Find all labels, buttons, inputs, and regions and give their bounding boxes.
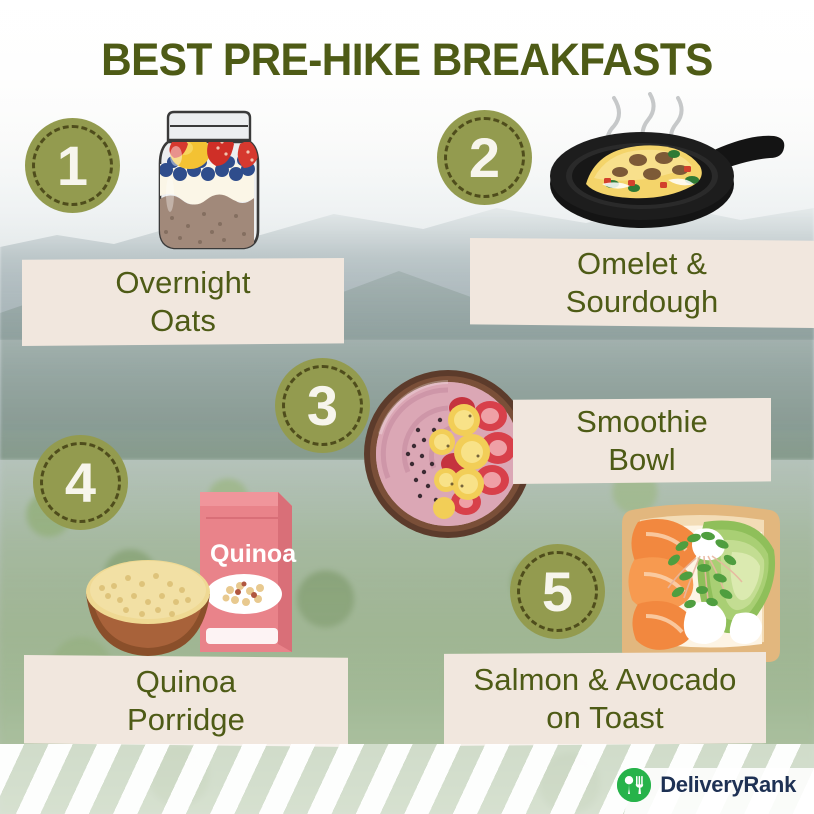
card-line-2: Sourdough bbox=[566, 283, 719, 321]
infographic-poster: BEST PRE-HIKE BREAKFASTS 1 bbox=[0, 0, 814, 814]
card-line-2: Oats bbox=[115, 302, 250, 340]
quinoa-porridge-illustration: Quinoa bbox=[78, 478, 318, 668]
card-quinoa-porridge: Quinoa Porridge bbox=[24, 655, 348, 747]
card-line-1: Salmon & Avocado bbox=[474, 661, 737, 699]
card-line-2: on Toast bbox=[474, 699, 737, 737]
card-line-1: Overnight bbox=[115, 264, 250, 302]
badge-number-3: 3 bbox=[275, 358, 370, 453]
card-line-1: Quinoa bbox=[127, 663, 245, 701]
badge-label: 3 bbox=[307, 378, 338, 434]
card-line-1: Omelet & bbox=[566, 245, 719, 283]
page-title: BEST PRE-HIKE BREAKFASTS bbox=[24, 34, 789, 86]
footer-logo[interactable]: DeliveryRank bbox=[617, 768, 796, 802]
card-line-2: Porridge bbox=[127, 701, 245, 739]
badge-number-2: 2 bbox=[437, 110, 532, 205]
salmon-avocado-toast-illustration bbox=[608, 494, 794, 672]
card-line-1: Smoothie bbox=[576, 403, 708, 441]
smoothie-bowl-illustration bbox=[362, 368, 534, 540]
card-smoothie-bowl: Smoothie Bowl bbox=[513, 398, 771, 484]
badge-number-1: 1 bbox=[25, 118, 120, 213]
quinoa-package-label: Quinoa bbox=[210, 540, 297, 568]
omelet-skillet-illustration bbox=[542, 92, 798, 238]
spoon-fork-circle-icon bbox=[617, 768, 651, 802]
overnight-oats-jar-illustration bbox=[148, 98, 270, 256]
card-omelet-sourdough: Omelet & Sourdough bbox=[470, 238, 814, 328]
badge-number-5: 5 bbox=[510, 544, 605, 639]
badge-label: 5 bbox=[542, 564, 573, 620]
card-line-2: Bowl bbox=[576, 441, 708, 479]
footer-brand-name: DeliveryRank bbox=[660, 772, 796, 798]
card-salmon-avocado-toast: Salmon & Avocado on Toast bbox=[444, 652, 766, 746]
badge-label: 1 bbox=[57, 138, 88, 194]
card-overnight-oats: Overnight Oats bbox=[22, 258, 344, 346]
badge-label: 2 bbox=[469, 130, 500, 186]
